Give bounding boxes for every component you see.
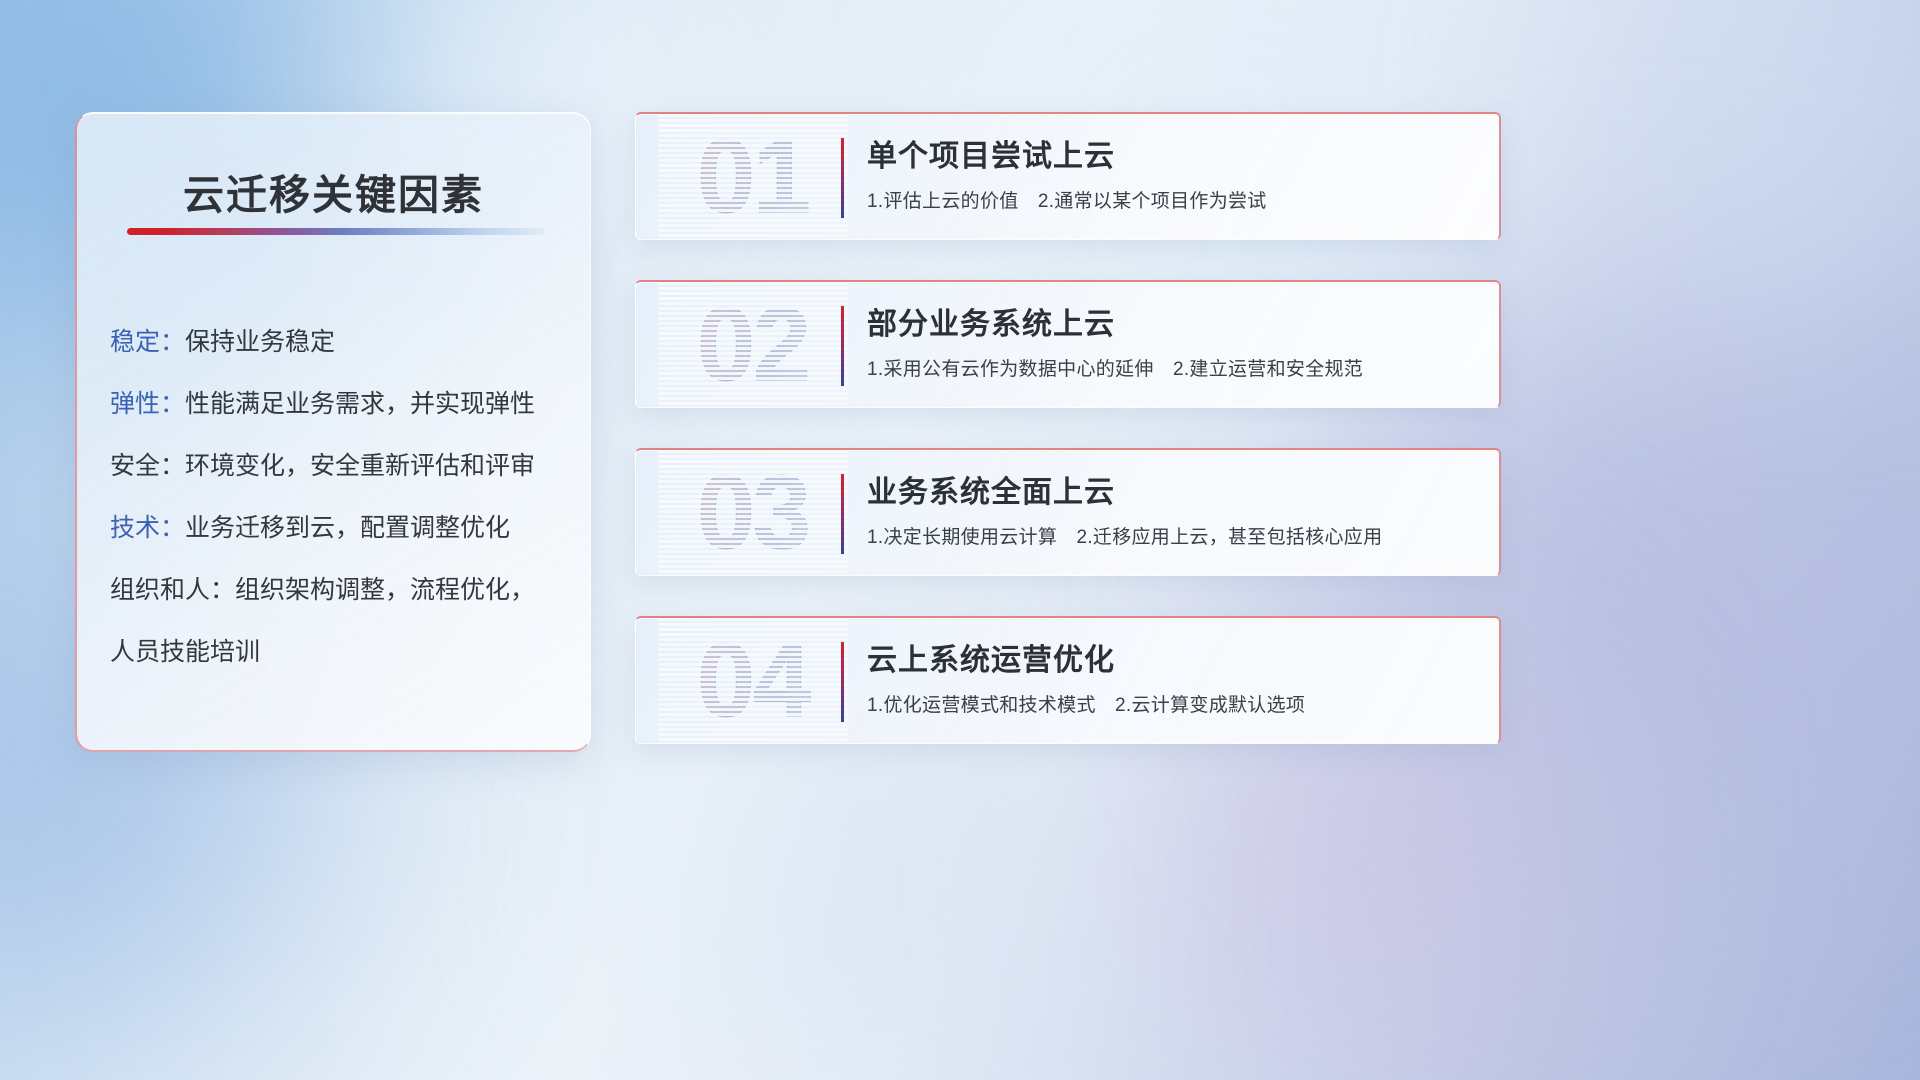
stage-number-watermark: 02: [658, 280, 848, 408]
key-factor-label: 组织和人：: [110, 576, 235, 604]
key-factor-line: 安全：环境变化，安全重新评估和评审: [110, 435, 568, 497]
stage-card[interactable]: 04云上系统运营优化1.优化运营模式和技术模式 2.云计算变成默认选项: [635, 616, 1501, 744]
stage-number-text: 01: [658, 112, 848, 240]
key-factor-label: 稳定：: [110, 328, 185, 356]
key-factor-label: 弹性：: [110, 390, 185, 418]
key-factor-line: 稳定：保持业务稳定: [110, 311, 568, 373]
key-factor-line: 组织和人：组织架构调整，流程优化，: [110, 559, 568, 621]
stage-number-watermark: 04: [658, 616, 848, 744]
stage-card-body: 业务系统全面上云1.决定长期使用云计算 2.迁移应用上云，甚至包括核心应用: [867, 472, 1475, 551]
panel-title: 云迁移关键因素: [77, 161, 590, 221]
key-factor-label: 技术：: [110, 514, 185, 542]
stage-number-text: 04: [658, 616, 848, 744]
stage-card-description: 1.采用公有云作为数据中心的延伸 2.建立运营和安全规范: [867, 357, 1475, 383]
key-factor-text: 性能满足业务需求，并实现弹性: [185, 390, 535, 418]
key-factors-list: 稳定：保持业务稳定弹性：性能满足业务需求，并实现弹性安全：环境变化，安全重新评估…: [110, 311, 568, 683]
key-factor-line: 弹性：性能满足业务需求，并实现弹性: [110, 373, 568, 435]
key-factor-text: 人员技能培训: [110, 638, 260, 666]
stage-number-watermark: 03: [658, 448, 848, 576]
stage-card-title: 单个项目尝试上云: [867, 136, 1475, 178]
stage-card[interactable]: 03业务系统全面上云1.决定长期使用云计算 2.迁移应用上云，甚至包括核心应用: [635, 448, 1501, 576]
stage-card[interactable]: 02部分业务系统上云1.采用公有云作为数据中心的延伸 2.建立运营和安全规范: [635, 280, 1501, 408]
key-factor-text: 组织架构调整，流程优化，: [235, 576, 535, 604]
stage-accent-bar: [841, 474, 844, 554]
title-underline-accent: [127, 228, 545, 235]
stage-card-description: 1.决定长期使用云计算 2.迁移应用上云，甚至包括核心应用: [867, 525, 1475, 551]
key-factor-line: 技术：业务迁移到云，配置调整优化: [110, 497, 568, 559]
stage-card-title: 部分业务系统上云: [867, 304, 1475, 346]
stage-card-body: 单个项目尝试上云1.评估上云的价值 2.通常以某个项目作为尝试: [867, 136, 1475, 215]
stage-card-title: 云上系统运营优化: [867, 640, 1475, 682]
stage-number-text: 02: [658, 280, 848, 408]
key-factor-text: 保持业务稳定: [185, 328, 335, 356]
stage-card-body: 云上系统运营优化1.优化运营模式和技术模式 2.云计算变成默认选项: [867, 640, 1475, 719]
stage-number-text: 03: [658, 448, 848, 576]
stage-accent-bar: [841, 138, 844, 218]
stage-card[interactable]: 01单个项目尝试上云1.评估上云的价值 2.通常以某个项目作为尝试: [635, 112, 1501, 240]
stage-card-body: 部分业务系统上云1.采用公有云作为数据中心的延伸 2.建立运营和安全规范: [867, 304, 1475, 383]
stage-card-title: 业务系统全面上云: [867, 472, 1475, 514]
stage-accent-bar: [841, 306, 844, 386]
stage-card-description: 1.评估上云的价值 2.通常以某个项目作为尝试: [867, 189, 1475, 215]
key-factors-panel: 云迁移关键因素 稳定：保持业务稳定弹性：性能满足业务需求，并实现弹性安全：环境变…: [75, 112, 591, 752]
stages-card-list: 01单个项目尝试上云1.评估上云的价值 2.通常以某个项目作为尝试02部分业务系…: [635, 112, 1501, 784]
key-factor-text: 环境变化，安全重新评估和评审: [185, 452, 535, 480]
key-factor-line: 人员技能培训: [110, 621, 568, 683]
stage-accent-bar: [841, 642, 844, 722]
stage-card-description: 1.优化运营模式和技术模式 2.云计算变成默认选项: [867, 693, 1475, 719]
key-factor-text: 业务迁移到云，配置调整优化: [185, 514, 510, 542]
key-factor-label: 安全：: [110, 452, 185, 480]
stage-number-watermark: 01: [658, 112, 848, 240]
